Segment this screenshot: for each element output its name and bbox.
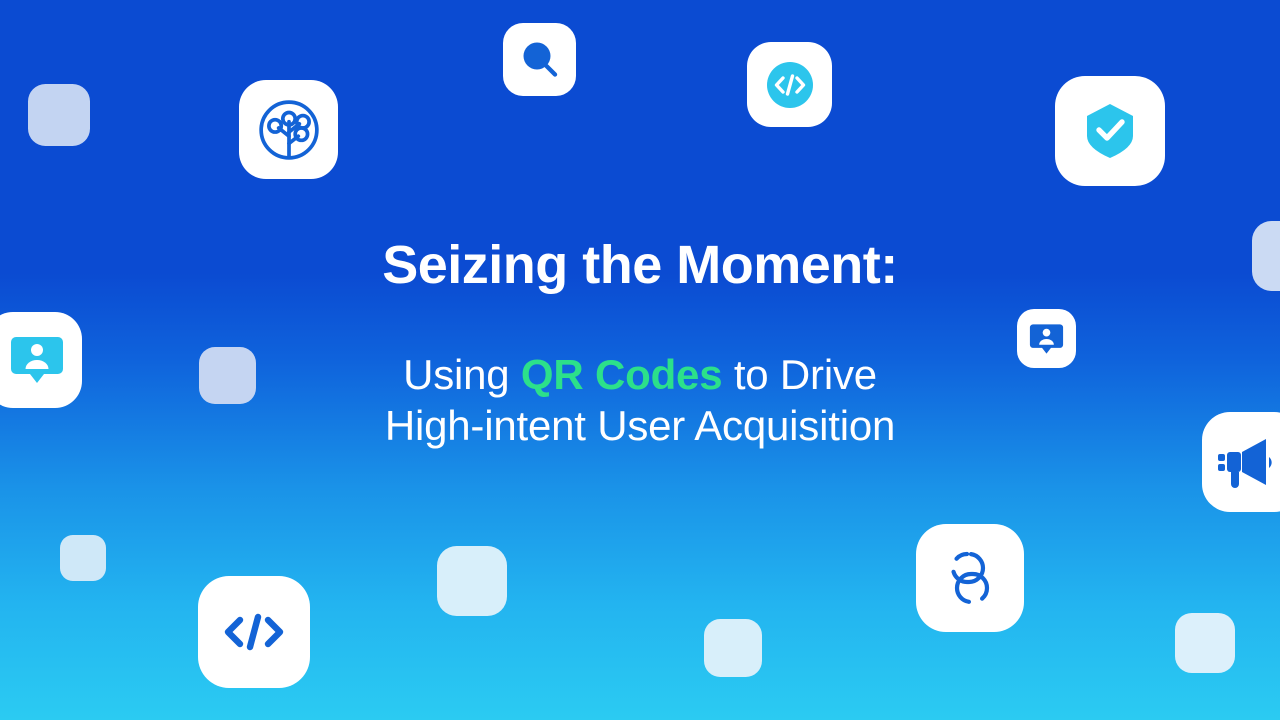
search-icon-tile <box>503 23 576 96</box>
code-icon-bottom-tile <box>198 576 310 688</box>
subtitle-line-1-post: to Drive <box>722 351 877 398</box>
code-icon-bottom <box>198 576 310 688</box>
shield-check-icon-tile <box>1055 76 1165 186</box>
network-tree-icon <box>239 80 338 179</box>
network-tree-icon-tile <box>239 80 338 179</box>
subtitle-accent-qr-codes: QR Codes <box>521 351 722 398</box>
slide-canvas: Seizing the Moment: Using QR Codes to Dr… <box>0 0 1280 720</box>
title-block: Seizing the Moment: Using QR Codes to Dr… <box>0 236 1280 451</box>
soft-square-bottom-right <box>1175 613 1235 673</box>
search-icon <box>503 23 576 96</box>
soft-square-bottom-left <box>60 535 106 581</box>
link-icon <box>916 524 1024 632</box>
link-icon-tile <box>916 524 1024 632</box>
soft-square-bottom-center <box>437 546 507 616</box>
subtitle-line-2: High-intent User Acquisition <box>0 401 1280 451</box>
code-icon-tile <box>747 42 832 127</box>
soft-square-top-left <box>28 84 90 146</box>
soft-square-bottom-mid <box>704 619 762 677</box>
page-title: Seizing the Moment: <box>0 236 1280 294</box>
shield-check-icon <box>1055 76 1165 186</box>
code-icon <box>747 42 832 127</box>
subtitle-line-1-pre: Using <box>403 351 521 398</box>
subtitle-line-1: Using QR Codes to Drive <box>0 350 1280 400</box>
